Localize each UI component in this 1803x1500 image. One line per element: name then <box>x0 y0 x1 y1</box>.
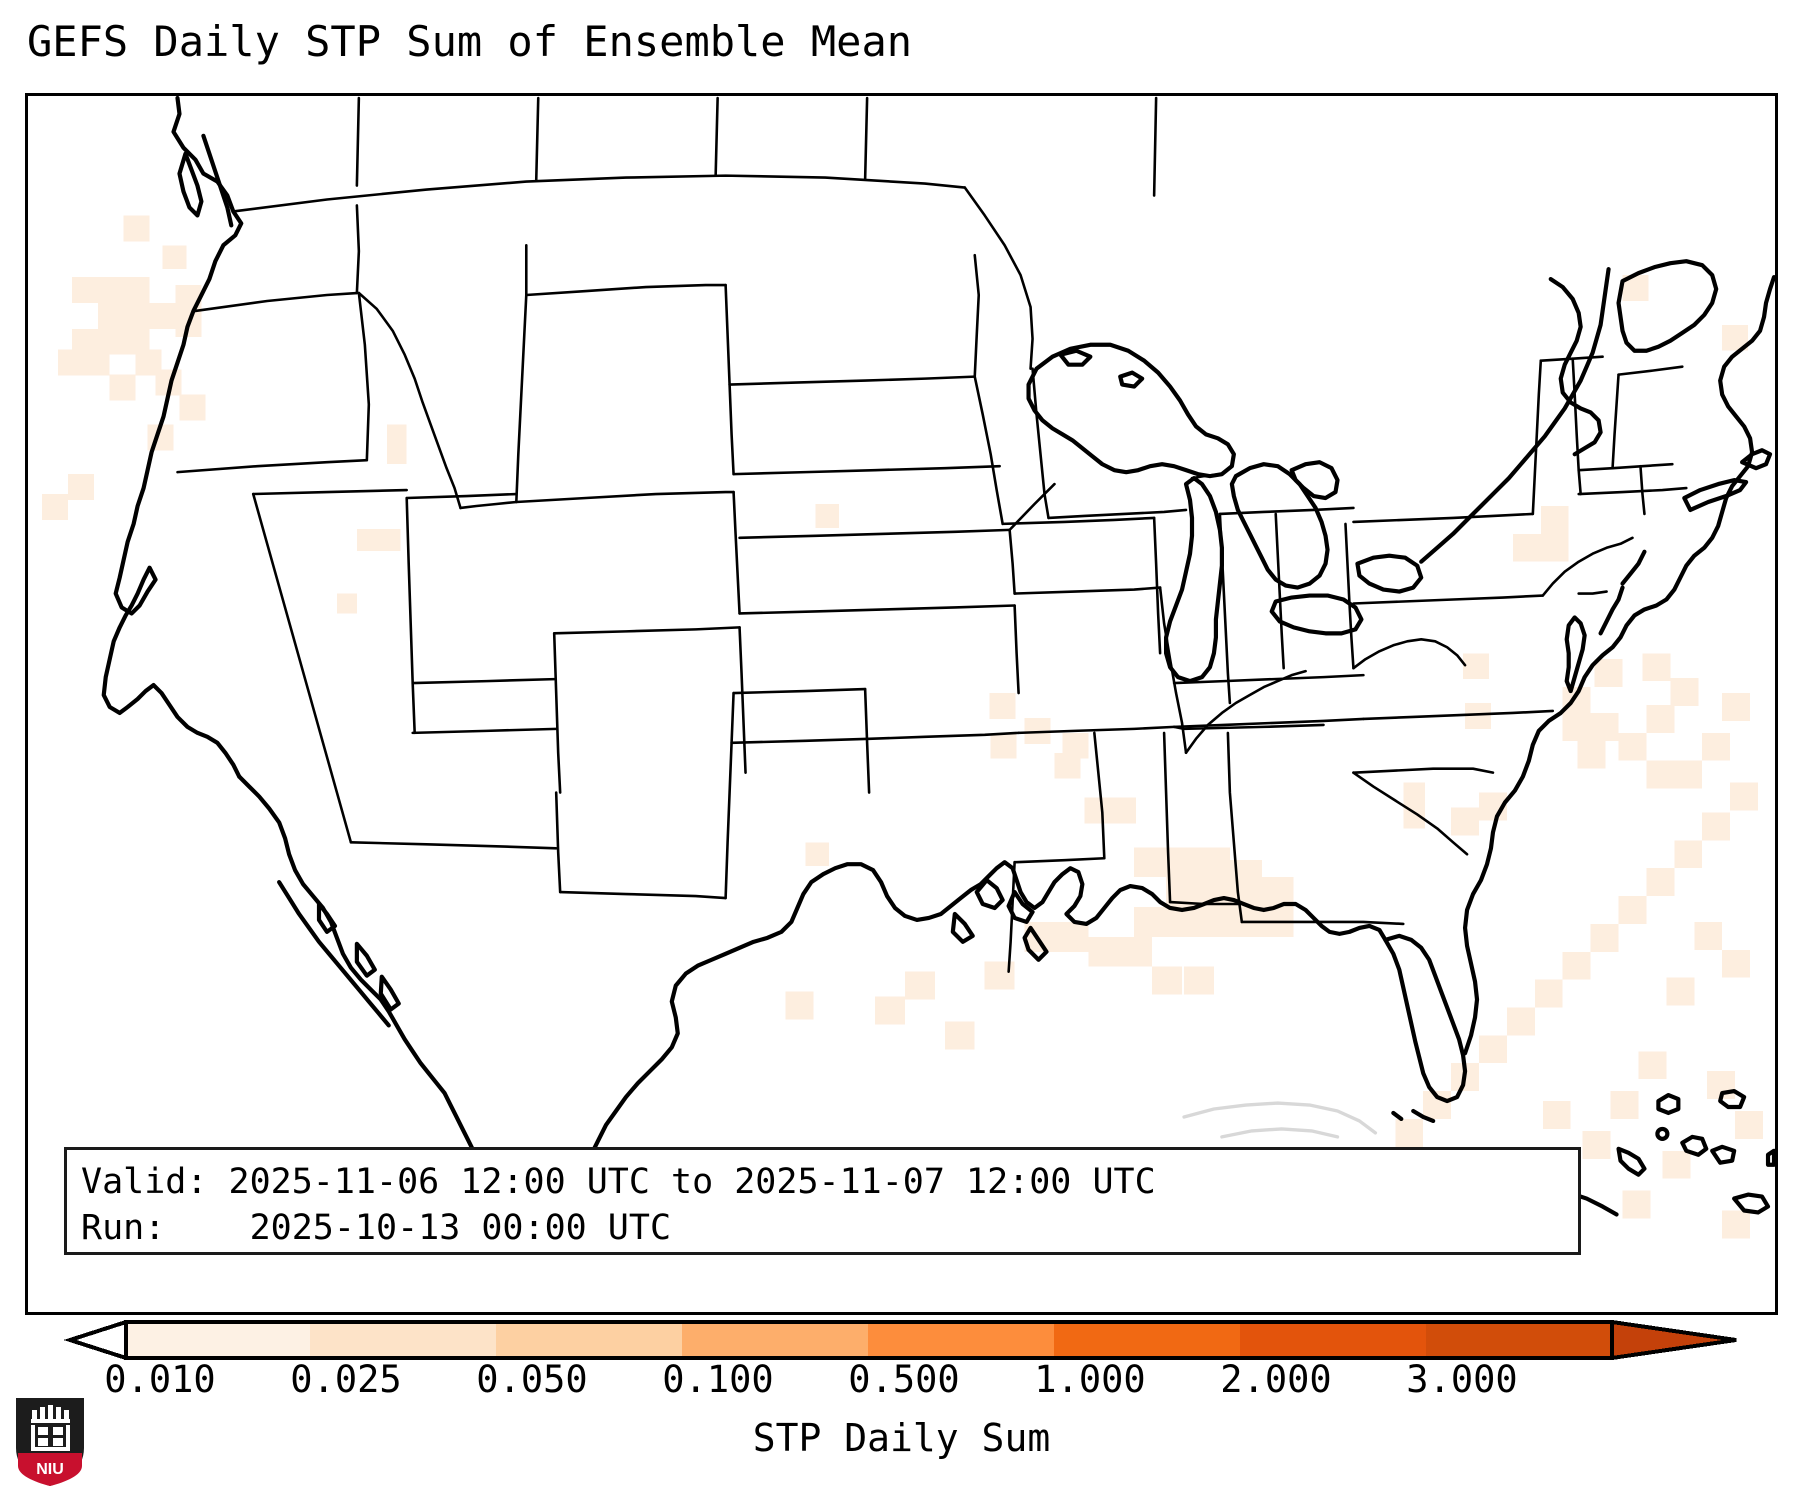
colorbar-seg-3 <box>682 1322 868 1358</box>
state-borders-layer <box>177 98 1686 972</box>
run-time-line: Run: 2025-10-13 00:00 UTC <box>81 1205 1578 1251</box>
niu-wordmark: NIU <box>36 1461 64 1478</box>
page-title: GEFS Daily STP Sum of Ensemble Mean <box>27 16 912 68</box>
map-panel <box>25 93 1778 1315</box>
colorbar-tick-label-3: 0.100 <box>662 1358 773 1402</box>
colorbar-seg-2 <box>496 1322 682 1358</box>
colorbar-tick-label-1: 0.025 <box>290 1358 401 1402</box>
valid-time-line: Valid: 2025-11-06 12:00 UTC to 2025-11-0… <box>81 1159 1578 1205</box>
data-shading-layer <box>42 215 1763 1238</box>
colorbar-tick-label-7: 3.000 <box>1406 1358 1517 1402</box>
coastline-layer <box>104 98 1774 1218</box>
colorbar-seg-1 <box>310 1322 496 1358</box>
colorbar-extend-right <box>1612 1322 1736 1358</box>
colorbar-tick-label-5: 1.000 <box>1034 1358 1145 1402</box>
colorbar-svg <box>0 1320 1803 1360</box>
colorbar-seg-0 <box>126 1322 310 1358</box>
colorbar-tick-label-2: 0.050 <box>476 1358 587 1402</box>
colorbar-tick-label-6: 2.000 <box>1220 1358 1331 1402</box>
colorbar-seg-6 <box>1240 1322 1426 1358</box>
colorbar-seg-5 <box>1054 1322 1240 1358</box>
colorbar-tick-labels: 0.010 0.025 0.050 0.100 0.500 1.000 2.00… <box>0 1358 1803 1418</box>
niu-logo: NIU <box>14 1396 86 1488</box>
map-canvas <box>28 96 1775 1312</box>
valid-run-info-box: Valid: 2025-11-06 12:00 UTC to 2025-11-0… <box>64 1147 1581 1255</box>
colorbar-extend-left <box>70 1322 126 1358</box>
colorbar-seg-4 <box>868 1322 1054 1358</box>
colorbar[interactable] <box>0 1320 1803 1360</box>
colorbar-seg-7 <box>1426 1322 1612 1358</box>
colorbar-tick-label-0: 0.010 <box>104 1358 215 1402</box>
colorbar-segments <box>70 1322 1736 1358</box>
colorbar-tick-label-4: 0.500 <box>848 1358 959 1402</box>
colorbar-axis-label: STP Daily Sum <box>0 1415 1803 1461</box>
